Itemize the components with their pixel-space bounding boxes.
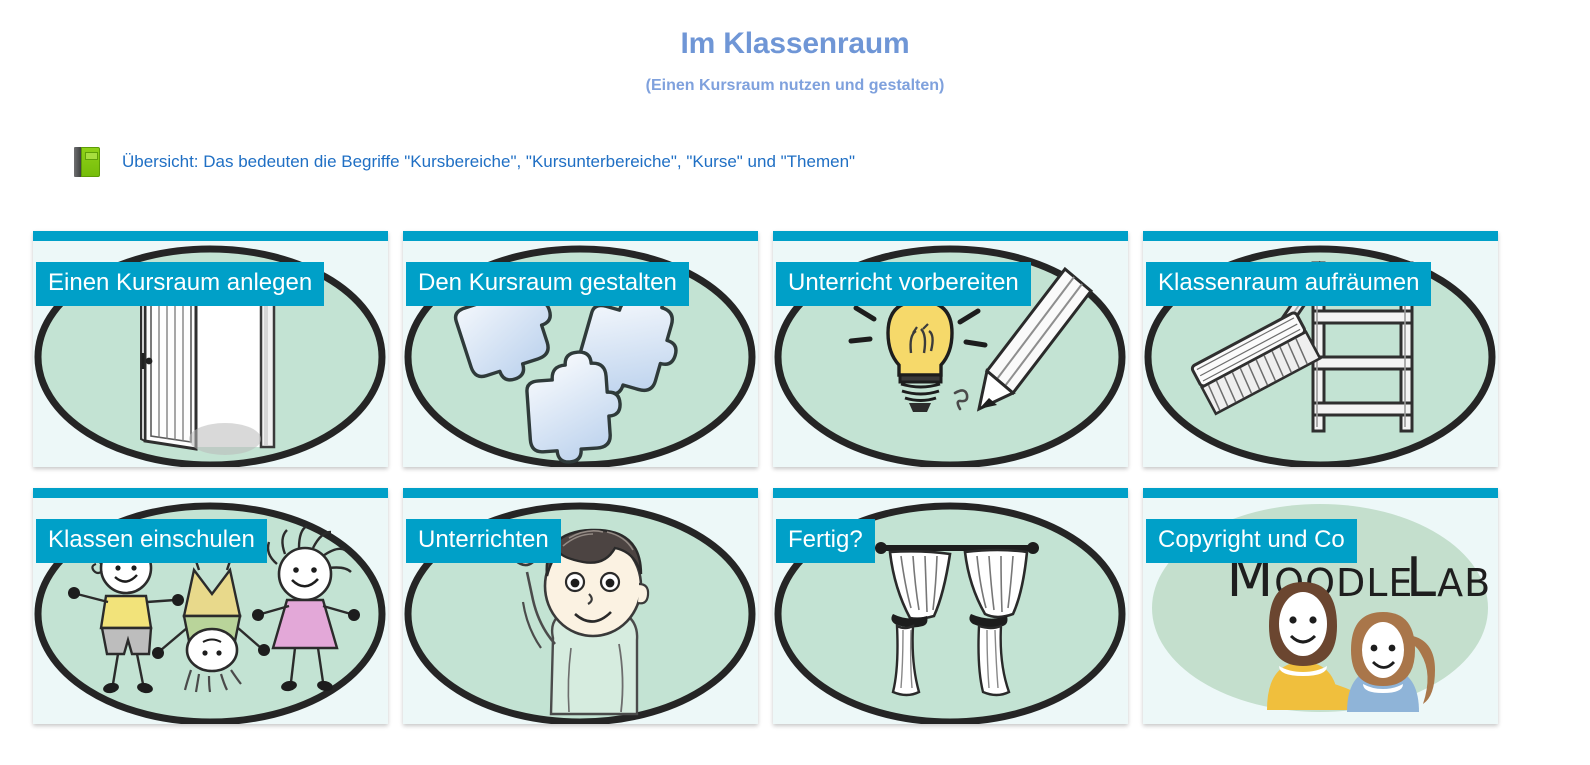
page-subtitle: (Einen Kursraum nutzen und gestalten) [0,76,1590,95]
tile-den-kursraum-gestalten[interactable]: Den Kursraum gestalten [403,231,758,467]
resource-overview-link[interactable]: Übersicht: Das bedeuten die Begriffe "Ku… [122,152,855,172]
tile-fertig[interactable]: Fertig? [773,488,1128,724]
tile-label: Einen Kursraum anlegen [36,262,324,306]
tile-label: Klassenraum aufräumen [1146,262,1431,306]
tile-label: Klassen einschulen [36,519,267,563]
tile-top-accent-bar [403,488,758,498]
tile-top-accent-bar [33,488,388,498]
tile-top-accent-bar [1143,488,1498,498]
tile-label: Copyright und Co [1146,519,1357,563]
book-spine [74,147,81,177]
logo-wordmark-lab: Lab [1406,546,1491,609]
tile-label: Unterrichten [406,519,561,563]
tile-klassenraum-aufraeumen[interactable]: Klassenraum aufräumen [1143,231,1498,467]
tile-label: Den Kursraum gestalten [406,262,689,306]
page-title: Im Klassenraum [0,26,1590,62]
tile-copyright-und-co[interactable]: Moodle Lab [1143,488,1498,724]
tile-label: Unterricht vorbereiten [776,262,1031,306]
tile-label: Fertig? [776,519,875,563]
tile-klassen-einschulen[interactable]: Klassen einschulen [33,488,388,724]
tile-top-accent-bar [33,231,388,241]
tile-einen-kursraum-anlegen[interactable]: Einen Kursraum anlegen [33,231,388,467]
tile-grid: Einen Kursraum anlegen [33,231,1495,724]
tile-top-accent-bar [773,231,1128,241]
page-header: Im Klassenraum (Einen Kursraum nutzen un… [0,0,1590,95]
book-label-patch [85,152,98,160]
tile-unterricht-vorbereiten[interactable]: Unterricht vorbereiten [773,231,1128,467]
tile-top-accent-bar [403,231,758,241]
book-icon [74,147,100,177]
tile-top-accent-bar [1143,231,1498,241]
tile-unterrichten[interactable]: Unterrichten [403,488,758,724]
tile-top-accent-bar [773,488,1128,498]
resource-link-row: Übersicht: Das bedeuten die Begriffe "Ku… [74,147,1590,177]
